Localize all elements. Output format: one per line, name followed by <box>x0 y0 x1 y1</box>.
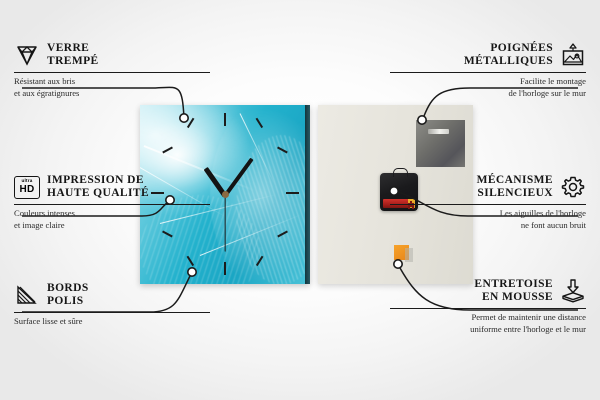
feature-title: IMPRESSION DE HAUTE QUALITÉ <box>47 174 149 201</box>
feature-bords-polis: BORDS POLIS Surface lisse et sûre <box>14 278 210 328</box>
feature-description: Facilite le montage de l'horloge sur le … <box>390 73 586 98</box>
feature-title: VERRE TREMPÉ <box>47 42 99 69</box>
feature-title: ENTRETOISE EN MOUSSE <box>474 278 553 305</box>
feature-poignees-metalliques: POIGNÉES MÉTALLIQUES Facilite le montage… <box>390 38 586 99</box>
glass-edge <box>305 105 310 284</box>
product-infographic: VERRE TREMPÉ Résistant aux bris et aux é… <box>0 0 600 400</box>
ultra-hd-icon-label: HD <box>19 185 34 195</box>
foam-spacer-part <box>394 245 409 260</box>
feature-description: Surface lisse et sûre <box>14 313 210 327</box>
feature-impression-haute-qualite: ultra HD IMPRESSION DE HAUTE QUALITÉ Cou… <box>14 170 210 231</box>
feature-description: Permet de maintenir une distance uniform… <box>390 309 586 334</box>
clock-center-cap <box>222 191 229 198</box>
hanger-slot <box>428 129 449 134</box>
feature-description: Résistant aux bris et aux égratignures <box>14 73 210 98</box>
picture-hanger-icon <box>560 42 586 68</box>
feature-description: Couleurs intenses et image claire <box>14 205 210 230</box>
metal-hanger-plate <box>416 120 465 167</box>
feature-title: POIGNÉES MÉTALLIQUES <box>464 42 553 69</box>
feature-verre-trempe: VERRE TREMPÉ Résistant aux bris et aux é… <box>14 38 210 99</box>
diamond-icon <box>14 42 40 68</box>
gear-icon <box>560 174 586 200</box>
feature-description: Les aiguilles de l'horloge ne font aucun… <box>390 205 586 230</box>
polished-edge-icon <box>14 282 40 308</box>
feature-mecanisme-silencieux: MÉCANISME SILENCIEUX Les aiguilles de l'… <box>390 170 586 231</box>
feature-title: MÉCANISME SILENCIEUX <box>477 174 553 201</box>
foam-spacer-icon <box>560 278 586 304</box>
clock-hand-second <box>224 195 225 252</box>
feature-title: BORDS POLIS <box>47 282 89 309</box>
ultra-hd-icon: ultra HD <box>14 174 40 200</box>
feature-entretoise-en-mousse: ENTRETOISE EN MOUSSE Permet de maintenir… <box>390 274 586 335</box>
